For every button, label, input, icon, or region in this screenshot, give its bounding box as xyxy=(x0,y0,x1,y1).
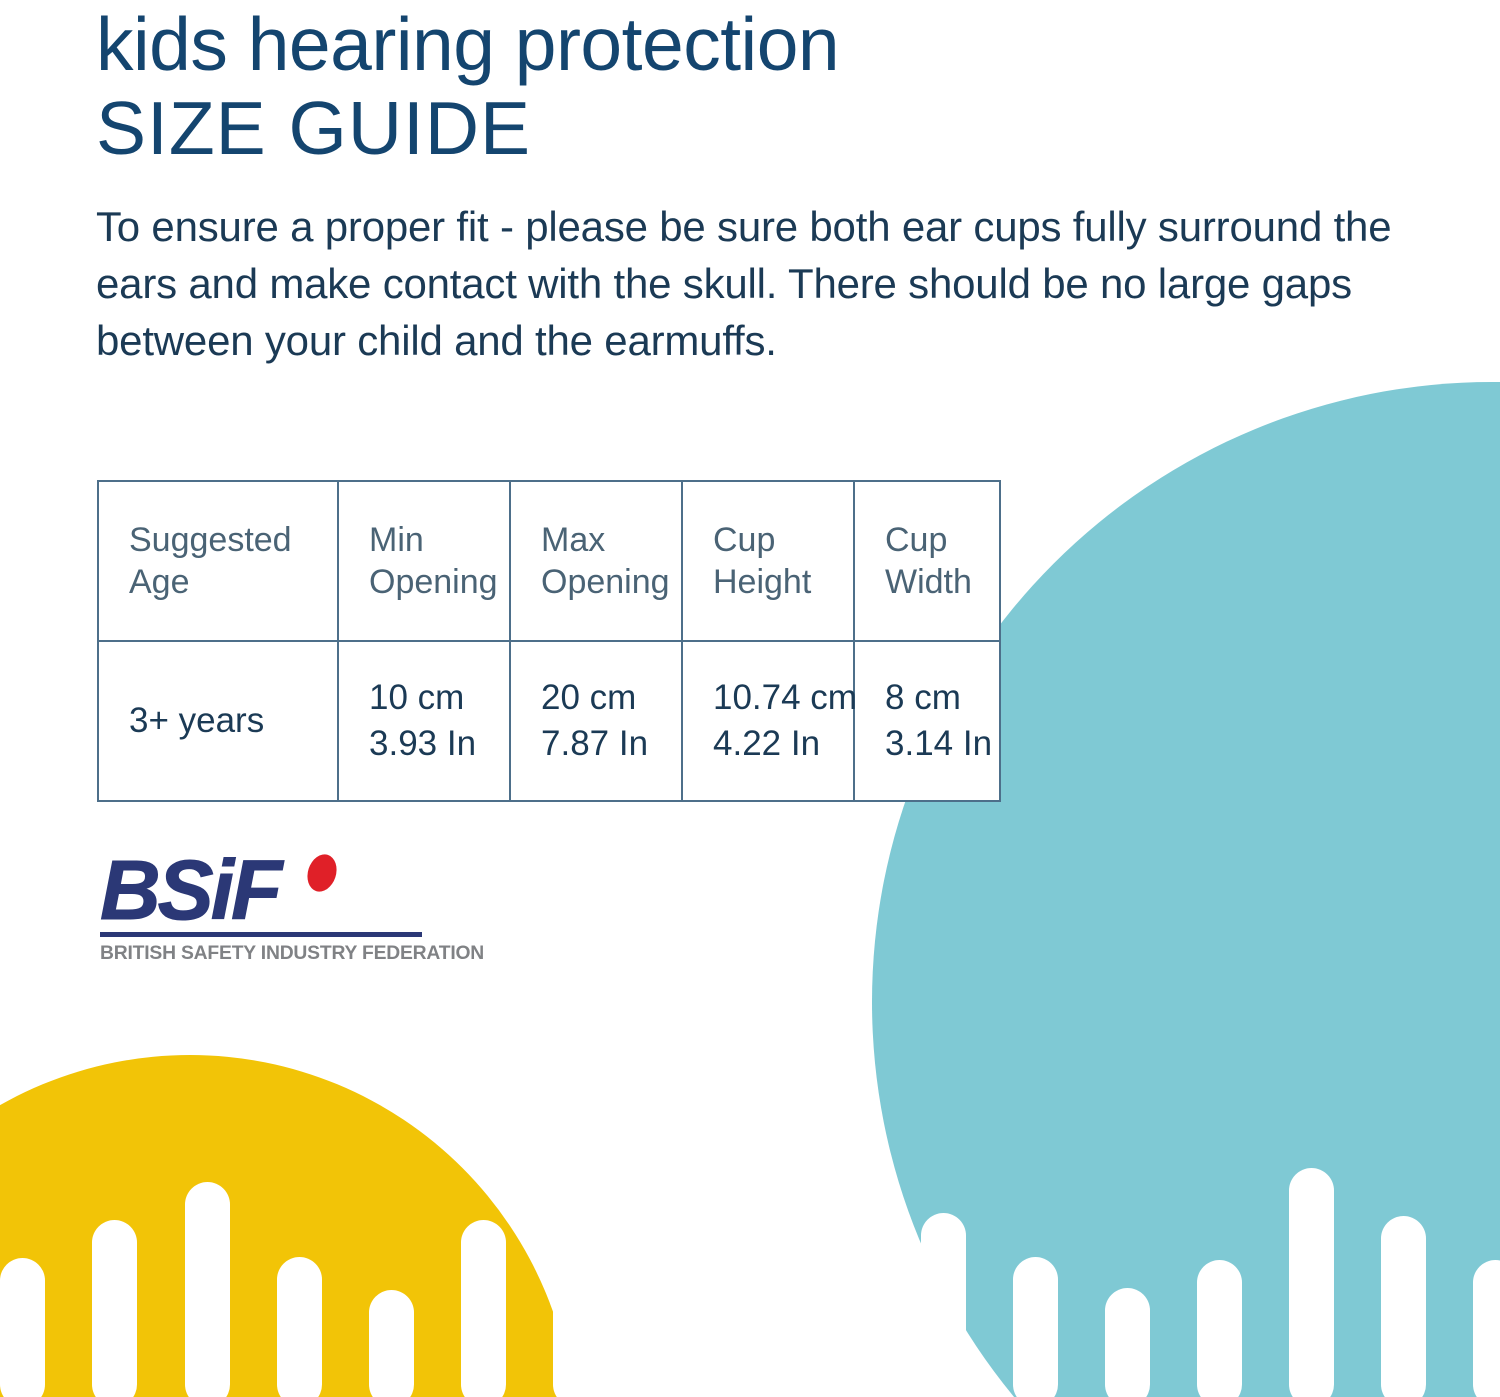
size-table-container: Suggested Age Min Opening Max Open xyxy=(97,480,999,802)
comb-bar xyxy=(737,1257,782,1397)
comb-bar xyxy=(1289,1168,1334,1397)
value-cm: 10 cm xyxy=(369,675,509,721)
header-line2: Age xyxy=(129,561,337,603)
value-cm: 8 cm xyxy=(885,675,999,721)
cell-cup-width: 8 cm 3.14 In xyxy=(854,641,1000,801)
value-in: 7.87 In xyxy=(541,721,681,767)
value-in: 3.93 In xyxy=(369,721,509,767)
cell-max-opening: 20 cm 7.87 In xyxy=(510,641,682,801)
comb-bar xyxy=(1105,1288,1150,1397)
comb-bar xyxy=(1197,1260,1242,1397)
header-line1: Cup xyxy=(713,519,853,561)
comb-bars-group xyxy=(0,1166,1500,1397)
header-line1: Min xyxy=(369,519,509,561)
column-header-cup-width: Cup Width xyxy=(854,481,1000,641)
header-line1: Max xyxy=(541,519,681,561)
column-header-min-opening: Min Opening xyxy=(338,481,510,641)
size-table: Suggested Age Min Opening Max Open xyxy=(97,480,1001,802)
value-cm: 10.74 cm xyxy=(713,675,853,721)
comb-bar xyxy=(921,1213,966,1397)
page-title-line2: SIZE GUIDE xyxy=(96,86,1106,170)
cell-cup-height: 10.74 cm 4.22 In xyxy=(682,641,854,801)
comb-bar xyxy=(92,1220,137,1397)
value-cm: 20 cm xyxy=(541,675,681,721)
header-line2: Opening xyxy=(541,561,681,603)
comb-bar xyxy=(645,1217,690,1397)
page-title-line1: kids hearing protection xyxy=(96,0,1106,86)
bsif-logo: BSiF BRITISH SAFETY INDUSTRY FEDERATION xyxy=(100,852,430,964)
size-guide-canvas: kids hearing protection SIZE GUIDE To en… xyxy=(0,0,1500,1397)
bsif-lettermark: BSiF xyxy=(100,848,279,932)
table-header-row: Suggested Age Min Opening Max Open xyxy=(98,481,1000,641)
bsif-wordmark-group: BSiF xyxy=(100,852,420,930)
header-line2: Opening xyxy=(369,561,509,603)
comb-bar xyxy=(0,1258,45,1397)
cell-suggested-age: 3+ years xyxy=(98,641,338,801)
comb-bar xyxy=(553,1187,598,1397)
column-header-suggested-age: Suggested Age xyxy=(98,481,338,641)
yellow-circle-shape xyxy=(0,1055,575,1397)
comb-bar xyxy=(369,1290,414,1397)
intro-paragraph: To ensure a proper fit - please be sure … xyxy=(96,198,1466,369)
comb-bar xyxy=(185,1182,230,1397)
comb-bar xyxy=(461,1220,506,1397)
value-in: 3.14 In xyxy=(885,721,999,767)
bsif-red-dot-icon xyxy=(303,851,341,896)
value-in: 4.22 In xyxy=(713,721,853,767)
cell-min-opening: 10 cm 3.93 In xyxy=(338,641,510,801)
comb-bar xyxy=(1381,1216,1426,1397)
column-header-cup-height: Cup Height xyxy=(682,481,854,641)
comb-bar xyxy=(829,1166,874,1397)
bsif-subtitle: BRITISH SAFETY INDUSTRY FEDERATION xyxy=(100,942,427,964)
header-line2: Height xyxy=(713,561,853,603)
comb-bar xyxy=(277,1257,322,1397)
header-line1: Cup xyxy=(885,519,999,561)
column-header-max-opening: Max Opening xyxy=(510,481,682,641)
comb-bar xyxy=(1473,1260,1500,1397)
header-block: kids hearing protection SIZE GUIDE To en… xyxy=(96,0,1106,369)
header-line1: Suggested xyxy=(129,519,337,561)
value-age: 3+ years xyxy=(129,701,264,740)
comb-bar xyxy=(1013,1257,1058,1397)
header-line2: Width xyxy=(885,561,999,603)
table-row: 3+ years 10 cm 3.93 In 20 cm 7.87 In xyxy=(98,641,1000,801)
